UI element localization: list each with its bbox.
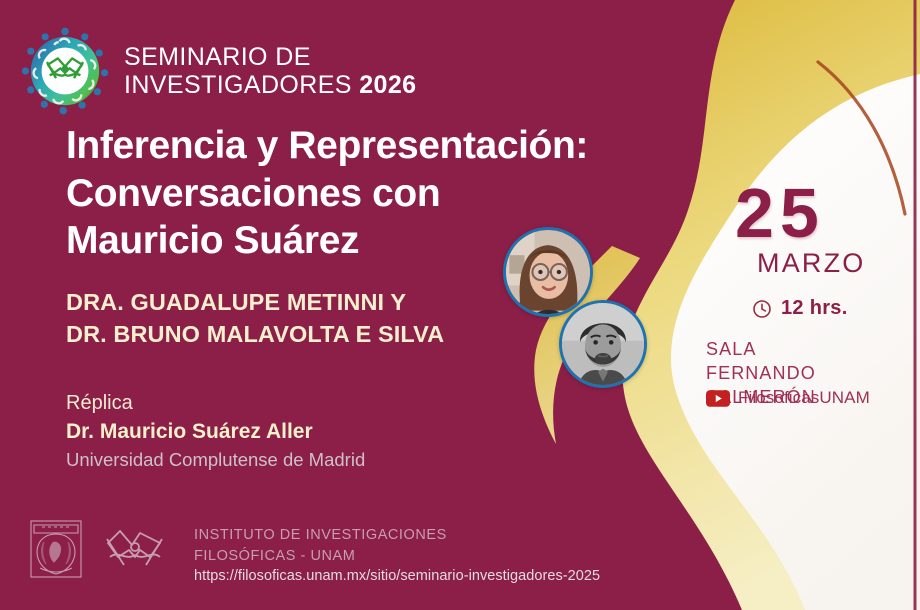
replica-name: Dr. Mauricio Suárez Aller	[66, 417, 546, 446]
seminar-circular-emblem-icon	[20, 26, 110, 116]
brand-wordmark: SEMINARIO DE INVESTIGADORES 2026	[124, 43, 416, 99]
replica-affiliation: Universidad Complutense de Madrid	[66, 446, 546, 474]
unam-shield-icon	[28, 518, 84, 580]
seminar-url[interactable]: https://filosoficas.unam.mx/sitio/semina…	[194, 566, 600, 588]
portrait-guadalupe-metinni	[503, 227, 593, 317]
iif-handshake-icon	[102, 523, 168, 575]
portrait-bruno-malavolta	[559, 300, 647, 388]
title-line-2: Conversaciones con	[66, 170, 666, 218]
event-month: MARZO	[757, 250, 866, 277]
event-day: 25	[735, 178, 825, 248]
speaker-line-2: DR. BRUNO MALAVOLTA E SILVA	[66, 319, 586, 351]
footer-text-block: INSTITUTO DE INVESTIGACIONES FILOSÓFICAS…	[194, 525, 600, 588]
institute-line-2: FILOSÓFICAS - UNAM	[194, 546, 600, 567]
brand-line-1: SEMINARIO DE	[124, 43, 416, 71]
seminar-header: SEMINARIO DE INVESTIGADORES 2026	[20, 26, 416, 116]
poster-footer: INSTITUTO DE INVESTIGACIONES FILOSÓFICAS…	[28, 518, 600, 588]
speaker-names: DRA. GUADALUPE METINNI Y DR. BRUNO MALAV…	[66, 287, 586, 350]
youtube-icon[interactable]	[706, 390, 730, 407]
replica-section: Réplica Dr. Mauricio Suárez Aller Univer…	[66, 390, 546, 474]
institute-line-1: INSTITUTO DE INVESTIGACIONES	[194, 525, 600, 546]
youtube-channel-row[interactable]: FilosoficasUNAM	[706, 388, 870, 408]
youtube-channel-name[interactable]: FilosoficasUNAM	[738, 388, 870, 408]
replica-label: Réplica	[66, 390, 546, 417]
event-poster: SEMINARIO DE INVESTIGADORES 2026 Inferen…	[0, 0, 920, 610]
title-line-1: Inferencia y Representación:	[66, 122, 666, 170]
clock-icon	[752, 299, 772, 319]
event-time-row: 12 hrs.	[752, 297, 848, 320]
venue-line-1: SALA	[706, 337, 920, 361]
brand-line-2: INVESTIGADORES	[124, 71, 352, 99]
event-time: 12 hrs.	[781, 297, 848, 320]
brand-year: 2026	[359, 71, 416, 99]
